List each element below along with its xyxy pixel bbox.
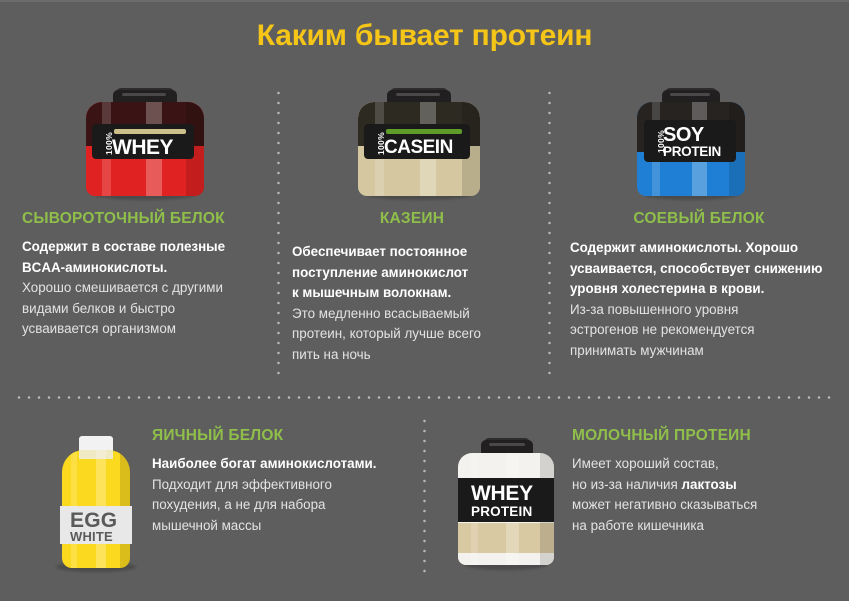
infographic-page: Каким бывает протеин 100% WHEY СЫВОРОТОЧ… bbox=[0, 0, 849, 601]
milk-line-3: на работе кишечника bbox=[572, 516, 838, 537]
divider-horizontal bbox=[14, 396, 836, 399]
section-whey-body: Содержит в составе полезные BCAA-аминоки… bbox=[22, 237, 272, 340]
section-casein-body: Обеспечивает постоянное поступление амин… bbox=[292, 242, 542, 365]
section-milk-protein-text: МОЛОЧНЫЙ ПРОТЕИН Имеет хороший состав, н… bbox=[572, 427, 838, 536]
casein-label-main: CASEIN bbox=[384, 138, 453, 157]
milk-line-1-text: но из-за наличия bbox=[572, 477, 682, 492]
section-whey-text: СЫВОРОТОЧНЫЙ БЕЛОК Содержит в составе по… bbox=[22, 210, 272, 340]
divider-vertical-3 bbox=[423, 416, 426, 576]
divider-vertical-2 bbox=[548, 88, 551, 380]
casein-line-5: пить на ночь bbox=[292, 345, 542, 366]
casein-line-3: Это медленно всасываемый bbox=[292, 304, 542, 325]
casein-line-4: протеин, который лучше всего bbox=[292, 324, 542, 345]
casein-line-0: Обеспечивает постоянное bbox=[292, 242, 542, 263]
milk-line-1: но из-за наличия лактозы bbox=[572, 475, 838, 496]
product-casein-tub: 100% CASEIN bbox=[358, 88, 480, 200]
whey-line-4: усваивается организмом bbox=[22, 319, 272, 340]
whey-line-1: BCAA-аминокислоты. bbox=[22, 258, 272, 279]
casein-line-1: поступление аминокислот bbox=[292, 263, 542, 284]
product-egg-white-bottle: EGG WHITE bbox=[50, 436, 142, 572]
soy-line-0: Содержит аминокислоты. Хорошо bbox=[570, 238, 838, 259]
divider-vertical-1 bbox=[277, 88, 280, 380]
soy-label-main: SOY bbox=[663, 125, 704, 145]
section-soy-heading: СОЕВЫЙ БЕЛОК bbox=[570, 210, 828, 228]
whey-line-2: Хорошо смешивается с другими bbox=[22, 278, 272, 299]
milk-line-2: может негативно сказываться bbox=[572, 495, 838, 516]
page-title: Каким бывает протеин bbox=[0, 19, 849, 53]
section-milk-protein-body: Имеет хороший состав, но из-за наличия л… bbox=[572, 454, 838, 536]
soy-label-sub: PROTEIN bbox=[663, 145, 721, 159]
soy-line-5: принимать мужчинам bbox=[570, 341, 838, 362]
milk-lid-ridge bbox=[489, 443, 525, 446]
section-whey-heading: СЫВОРОТОЧНЫЙ БЕЛОК bbox=[22, 210, 272, 228]
product-milk-protein-tub: WHEY PROTEIN bbox=[458, 438, 554, 570]
section-egg-white-text: ЯИЧНЫЙ БЕЛОК Наиболее богат аминокислота… bbox=[152, 427, 412, 536]
milk-label-sub: PROTEIN bbox=[471, 505, 532, 519]
milk-line-0: Имеет хороший состав, bbox=[572, 454, 838, 475]
section-milk-protein-heading: МОЛОЧНЫЙ ПРОТЕИН bbox=[572, 427, 838, 445]
whey-label-stripe bbox=[114, 129, 186, 134]
casein-line-2: к мышечным волокнам. bbox=[292, 283, 542, 304]
egg-line-1: Подходит для эффективного bbox=[152, 475, 412, 496]
soy-line-3: Из-за повышенного уровня bbox=[570, 300, 838, 321]
whey-lid-ridge bbox=[122, 93, 166, 96]
casein-label: 100% CASEIN bbox=[364, 124, 470, 159]
soy-label: 100% SOY PROTEIN bbox=[644, 120, 736, 162]
product-whey-tub: 100% WHEY bbox=[86, 88, 204, 200]
milk-line-1-emphasis: лактозы bbox=[682, 477, 737, 492]
egg-line-0: Наиболее богат аминокислотами. bbox=[152, 454, 412, 475]
soy-line-1: усваивается, способствует снижению bbox=[570, 259, 838, 280]
section-egg-white-heading: ЯИЧНЫЙ БЕЛОК bbox=[152, 427, 412, 445]
whey-line-0: Содержит в составе полезные bbox=[22, 237, 272, 258]
section-egg-white-body: Наиболее богат аминокислотами. Подходит … bbox=[152, 454, 412, 536]
whey-line-3: видами белков и быстро bbox=[22, 299, 272, 320]
egg-label: EGG WHITE bbox=[60, 506, 132, 544]
milk-label-main: WHEY bbox=[471, 483, 533, 504]
soy-line-4: эстрогенов не рекомендуется bbox=[570, 320, 838, 341]
egg-line-3: мышечной массы bbox=[152, 516, 412, 537]
egg-label-main: EGG bbox=[70, 510, 117, 531]
casein-label-stripe bbox=[386, 129, 462, 134]
product-soy-tub: 100% SOY PROTEIN bbox=[637, 88, 745, 200]
egg-line-2: похудения, а не для набора bbox=[152, 495, 412, 516]
egg-label-sub: WHITE bbox=[70, 530, 113, 543]
whey-label-main: WHEY bbox=[112, 137, 173, 158]
section-casein-text: КАЗЕИН Обеспечивает постоянное поступлен… bbox=[292, 210, 542, 365]
casein-lid-ridge bbox=[396, 93, 440, 96]
soy-lid-ridge bbox=[670, 93, 710, 96]
whey-label: 100% WHEY bbox=[92, 124, 194, 159]
soy-line-2: уровня холестерина в крови. bbox=[570, 279, 838, 300]
section-soy-text: СОЕВЫЙ БЕЛОК Содержит аминокислоты. Хоро… bbox=[570, 210, 838, 361]
milk-label: WHEY PROTEIN bbox=[458, 478, 554, 522]
section-casein-heading: КАЗЕИН bbox=[292, 210, 532, 228]
section-soy-body: Содержит аминокислоты. Хорошо усваиваетс… bbox=[570, 238, 838, 361]
